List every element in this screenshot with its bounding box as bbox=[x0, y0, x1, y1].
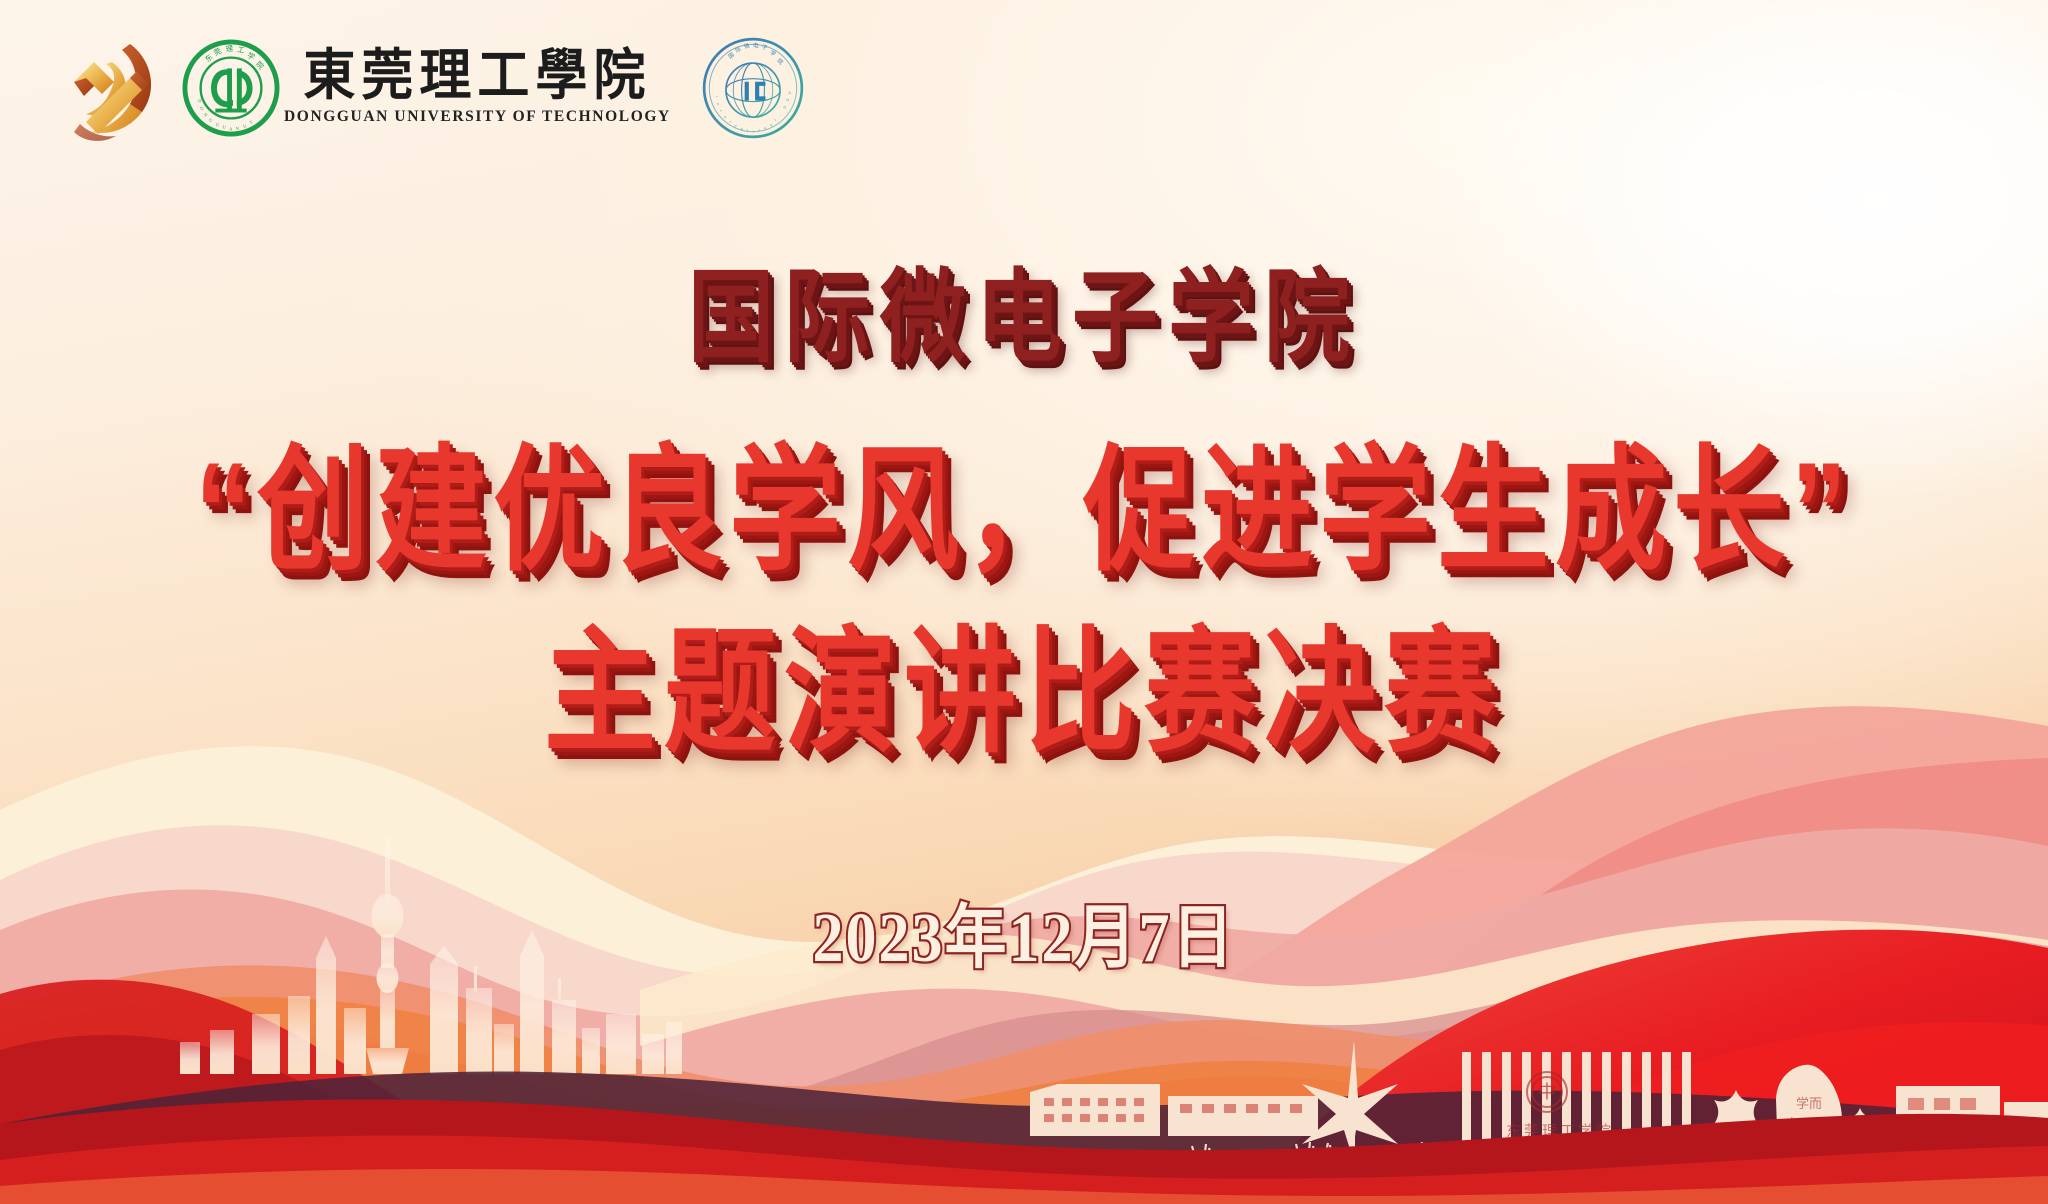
svg-text:G: G bbox=[208, 117, 214, 123]
svg-text:n: n bbox=[715, 102, 719, 105]
theme-quote: “创建优良学风，促进学生成长” bbox=[0, 400, 2048, 598]
svg-text:r: r bbox=[728, 120, 732, 124]
svg-text:t: t bbox=[719, 109, 723, 112]
svg-text:院: 院 bbox=[775, 57, 785, 67]
svg-text:电: 电 bbox=[753, 41, 759, 49]
svg-text:G: G bbox=[215, 122, 221, 128]
dgut-name-cn: 東莞理工學院 bbox=[303, 49, 651, 105]
svg-text:子: 子 bbox=[761, 44, 769, 52]
dgut-name-en: DONGGUAN UNIVERSITY OF TECHNOLOGY bbox=[284, 108, 671, 126]
svg-text:N: N bbox=[203, 112, 209, 118]
svg-text:微: 微 bbox=[743, 41, 751, 50]
svg-text:D: D bbox=[782, 105, 787, 110]
svg-text:e: e bbox=[723, 115, 727, 119]
svg-text:t: t bbox=[746, 129, 747, 133]
svg-text:U: U bbox=[787, 91, 791, 95]
event-title: 主题演讲比赛决赛 bbox=[0, 582, 2048, 780]
ism-logo: 国 际 微 电 子 学 院 I n t e r n a t i bbox=[685, 36, 805, 140]
svg-text:n: n bbox=[763, 126, 766, 130]
svg-text:O: O bbox=[199, 106, 205, 112]
svg-text:U: U bbox=[222, 124, 227, 130]
svg-text:T: T bbox=[249, 119, 254, 125]
svg-text:n: n bbox=[734, 124, 738, 128]
hammer-sickle-icon bbox=[58, 28, 168, 148]
poster-canvas: 中 东莞理工学院 学而 知不足 bbox=[0, 0, 2048, 1204]
svg-text:l: l bbox=[774, 118, 777, 122]
logo-row: 东 莞 理 工 学 院 D O N G G U A N U T bbox=[58, 28, 805, 148]
svg-text:I: I bbox=[714, 96, 718, 98]
svg-text:D: D bbox=[197, 98, 203, 103]
svg-text:G: G bbox=[785, 98, 790, 102]
svg-text:A: A bbox=[229, 126, 234, 131]
svg-text:工: 工 bbox=[237, 45, 246, 55]
dgut-logo: 东 莞 理 工 学 院 D O N G G U A N U T bbox=[182, 39, 671, 137]
dgut-seal-icon: 东 莞 理 工 学 院 D O N G G U A N U T bbox=[182, 39, 280, 137]
svg-text:莞: 莞 bbox=[212, 46, 223, 57]
svg-text:o: o bbox=[757, 128, 760, 132]
svg-text:·: · bbox=[779, 112, 783, 115]
svg-text:理: 理 bbox=[225, 44, 234, 54]
cpc-emblem-logo bbox=[58, 28, 168, 148]
svg-text:N: N bbox=[235, 126, 240, 131]
event-date: 2023年12月7日 bbox=[0, 881, 2048, 982]
svg-text:学: 学 bbox=[246, 50, 257, 61]
scenery-layer-foreground-waves bbox=[0, 1090, 2048, 1204]
ism-seal-icon: 国 际 微 电 子 学 院 I n t e r n a t i bbox=[701, 36, 805, 140]
svg-text:U: U bbox=[243, 123, 248, 129]
school-title: 国际微电子学院 bbox=[0, 235, 2048, 383]
dgut-wordmark: 東莞理工學院 DONGGUAN UNIVERSITY OF TECHNOLOGY bbox=[284, 50, 671, 125]
